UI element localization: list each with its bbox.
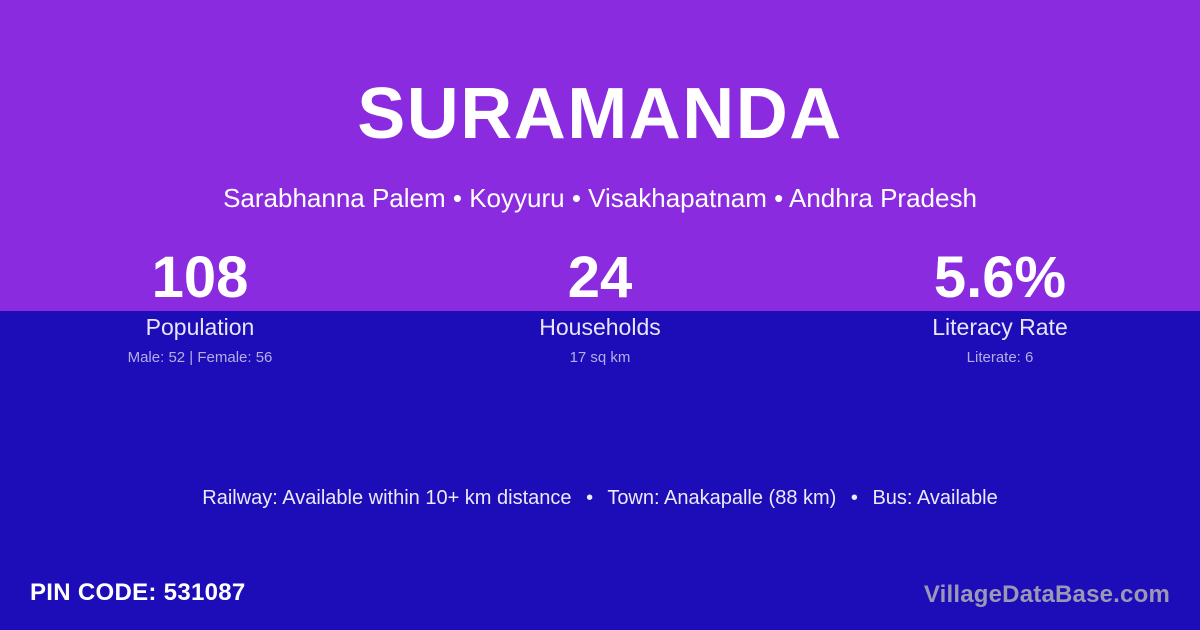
stat-households-label: Households [400,313,800,341]
stat-households-value: 24 [400,248,800,308]
connectivity-separator-2: • [842,484,867,512]
page-title: SURAMANDA [0,78,1200,150]
site-watermark: VillageDataBase.com [924,580,1170,610]
connectivity-separator-1: • [577,484,602,512]
stat-population-value: 108 [0,248,400,308]
village-info-card: SURAMANDA Sarabhanna Palem • Koyyuru • V… [0,0,1200,630]
connectivity-railway: Railway: Available within 10+ km distanc… [202,487,571,509]
stat-households-detail: 17 sq km [400,349,800,367]
stat-population-label: Population [0,313,400,341]
statistics-row: 108 Population Male: 52 | Female: 56 24 … [0,248,1200,367]
connectivity-row: Railway: Available within 10+ km distanc… [0,484,1200,512]
stat-literacy-rate-label: Literacy Rate [800,313,1200,341]
stat-literacy-rate-value: 5.6% [800,248,1200,308]
stat-literacy-rate-detail: Literate: 6 [800,349,1200,367]
stat-population-detail: Male: 52 | Female: 56 [0,349,400,367]
stat-population: 108 Population Male: 52 | Female: 56 [0,248,400,367]
connectivity-town: Town: Anakapalle (88 km) [607,487,836,509]
stat-households: 24 Households 17 sq km [400,248,800,367]
connectivity-bus: Bus: Available [872,487,997,509]
stat-literacy-rate: 5.6% Literacy Rate Literate: 6 [800,248,1200,367]
pin-code: PIN CODE: 531087 [30,578,246,608]
breadcrumb: Sarabhanna Palem • Koyyuru • Visakhapatn… [0,183,1200,214]
